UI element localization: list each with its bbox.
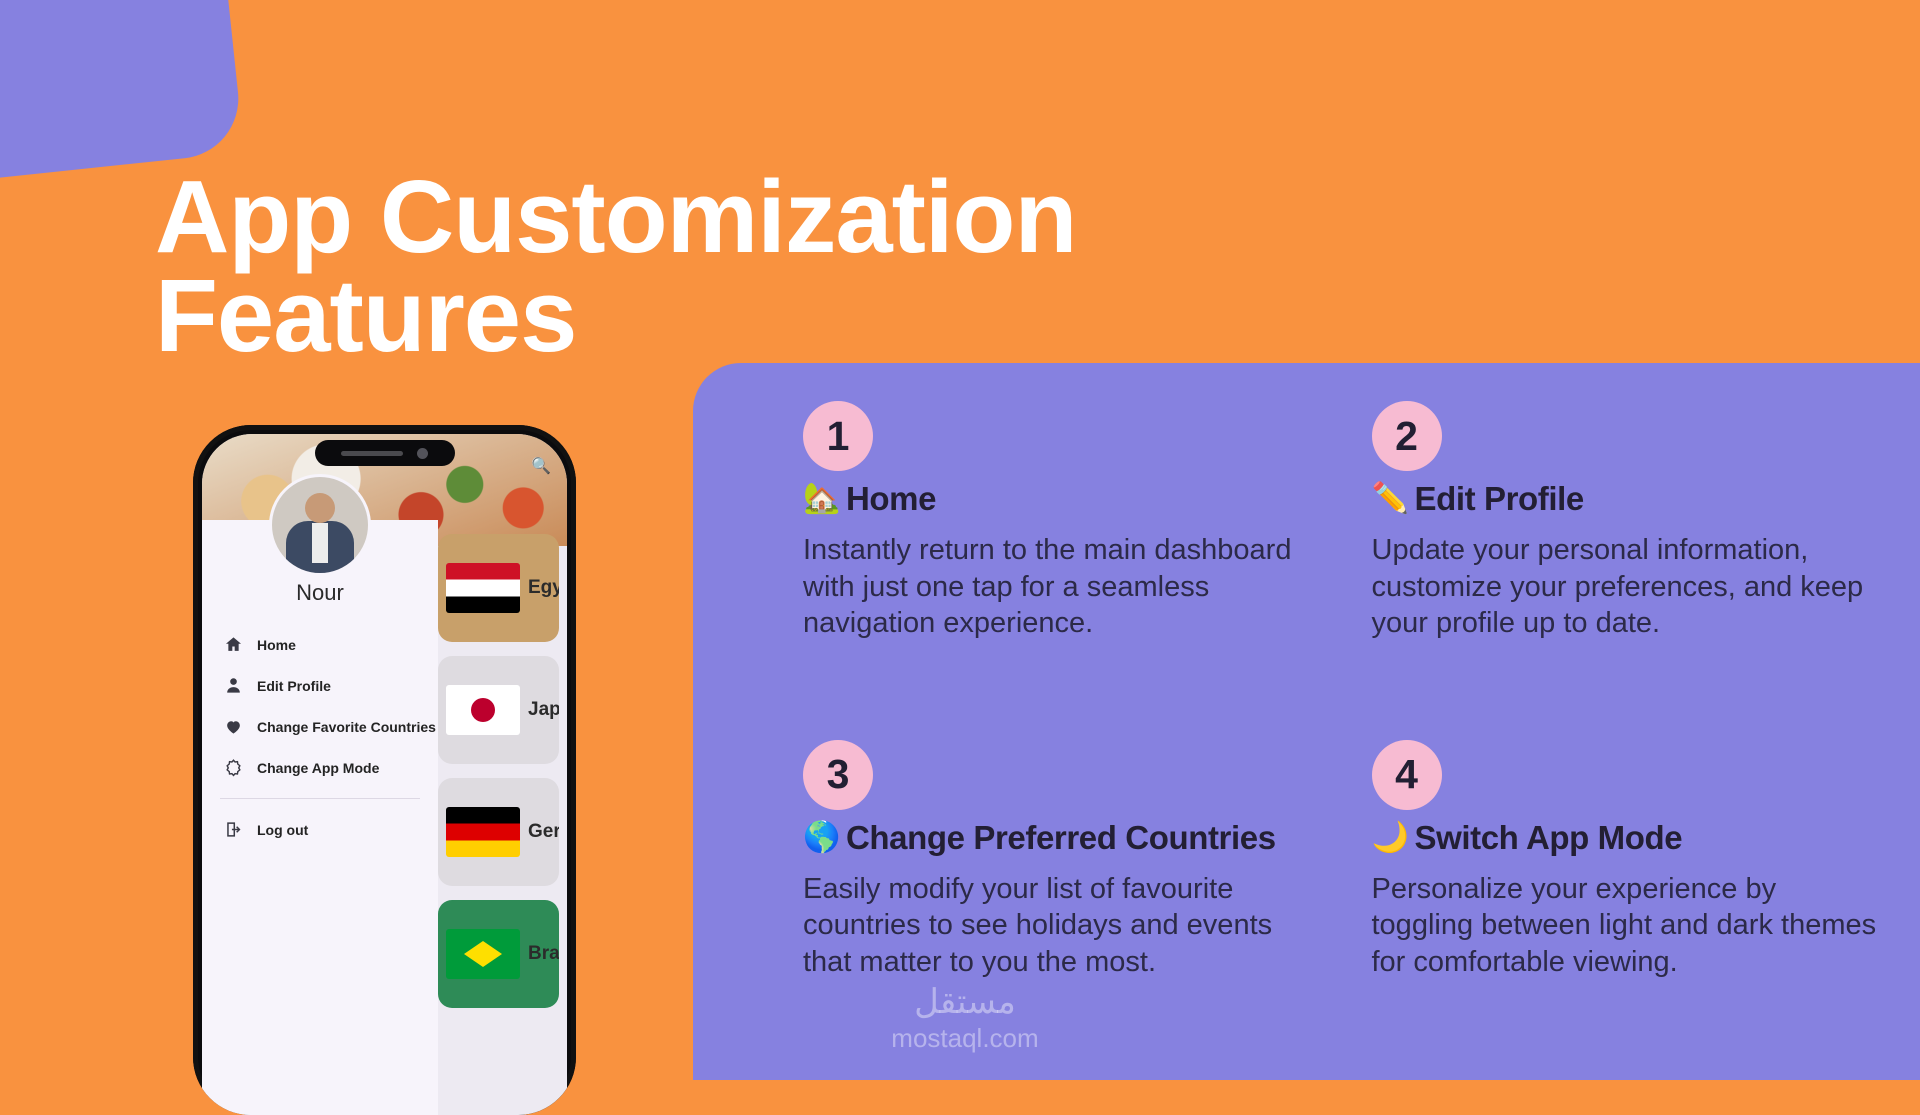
flag-icon [446,807,520,857]
feature-body: Personalize your experience by toggling … [1372,871,1881,981]
phone-notch [315,440,455,466]
crescent-moon-icon: 🌙 [1372,823,1409,853]
user-name: Nour [202,580,438,606]
feature-title: 🏡 Home [803,480,1312,518]
sidebar-item-favorite-countries[interactable]: Change Favorite Countries [202,706,438,747]
pencil-icon: ✏️ [1372,484,1409,514]
avatar [269,474,371,576]
sidebar-item-label: Log out [257,822,308,838]
feature-title-text: Change Preferred Countries [846,819,1276,857]
sidebar-item-home[interactable]: Home [202,624,438,665]
feature-card-1: 1 🏡 Home Instantly return to the main da… [803,401,1312,722]
globe-americas-icon: 🌎 [803,823,840,853]
page-title: App Customization Features [155,168,1076,366]
brightness-icon [224,758,243,777]
navigation-drawer: Nour Home Edit Profile [202,520,438,1115]
country-name: Egypt [528,577,559,599]
search-icon[interactable]: 🔍 [531,456,551,476]
feature-title: 🌙 Switch App Mode [1372,819,1881,857]
flag-icon [446,563,520,613]
list-item[interactable]: Japan [438,656,559,764]
sidebar-item-edit-profile[interactable]: Edit Profile [202,665,438,706]
list-item[interactable]: Brazil [438,900,559,1008]
country-name: Germany [528,821,559,843]
speaker-bar [341,451,403,456]
feature-card-3: 3 🌎 Change Preferred Countries Easily mo… [803,740,1312,1061]
status-badge: 4 [1372,740,1442,810]
feature-body: Easily modify your list of favourite cou… [803,871,1312,981]
sidebar-item-label: Home [257,637,296,653]
feature-card-2: 2 ✏️ Edit Profile Update your personal i… [1372,401,1881,722]
feature-body: Update your personal information, custom… [1372,532,1881,642]
feature-title-text: Switch App Mode [1414,819,1682,857]
flag-icon [446,685,520,735]
country-name: Japan [528,699,559,721]
logout-icon [224,820,243,839]
list-item[interactable]: Germany [438,778,559,886]
camera-dot [417,448,428,459]
sidebar-item-logout[interactable]: Log out [202,809,438,850]
country-name: Brazil [528,943,559,965]
features-panel: 1 🏡 Home Instantly return to the main da… [693,363,1920,1080]
menu-divider [220,798,420,799]
drawer-menu: Home Edit Profile Change Favorite Countr… [202,624,438,850]
feature-title: ✏️ Edit Profile [1372,480,1881,518]
flag-icon [446,929,520,979]
avatar-shirt [312,523,328,563]
sidebar-item-app-mode[interactable]: Change App Mode [202,747,438,788]
sidebar-item-label: Change App Mode [257,760,379,776]
status-badge: 1 [803,401,873,471]
feature-title-text: Edit Profile [1414,480,1583,518]
feature-card-4: 4 🌙 Switch App Mode Personalize your exp… [1372,740,1881,1061]
feature-title: 🌎 Change Preferred Countries [803,819,1312,857]
features-grid: 1 🏡 Home Instantly return to the main da… [693,363,1920,1080]
status-badge: 2 [1372,401,1442,471]
list-item[interactable]: Egypt [438,534,559,642]
phone-mockup: 🔍 Egypt Japan Germany Brazil [193,425,576,1115]
house-with-garden-icon: 🏡 [803,484,840,514]
sidebar-item-label: Change Favorite Countries [257,719,436,735]
home-icon [224,635,243,654]
phone-screen: 🔍 Egypt Japan Germany Brazil [202,434,567,1115]
status-badge: 3 [803,740,873,810]
sidebar-item-label: Edit Profile [257,678,331,694]
person-icon [224,676,243,695]
feature-title-text: Home [846,480,936,518]
feature-body: Instantly return to the main dashboard w… [803,532,1312,642]
heart-icon [224,717,243,736]
avatar-head [305,493,335,523]
